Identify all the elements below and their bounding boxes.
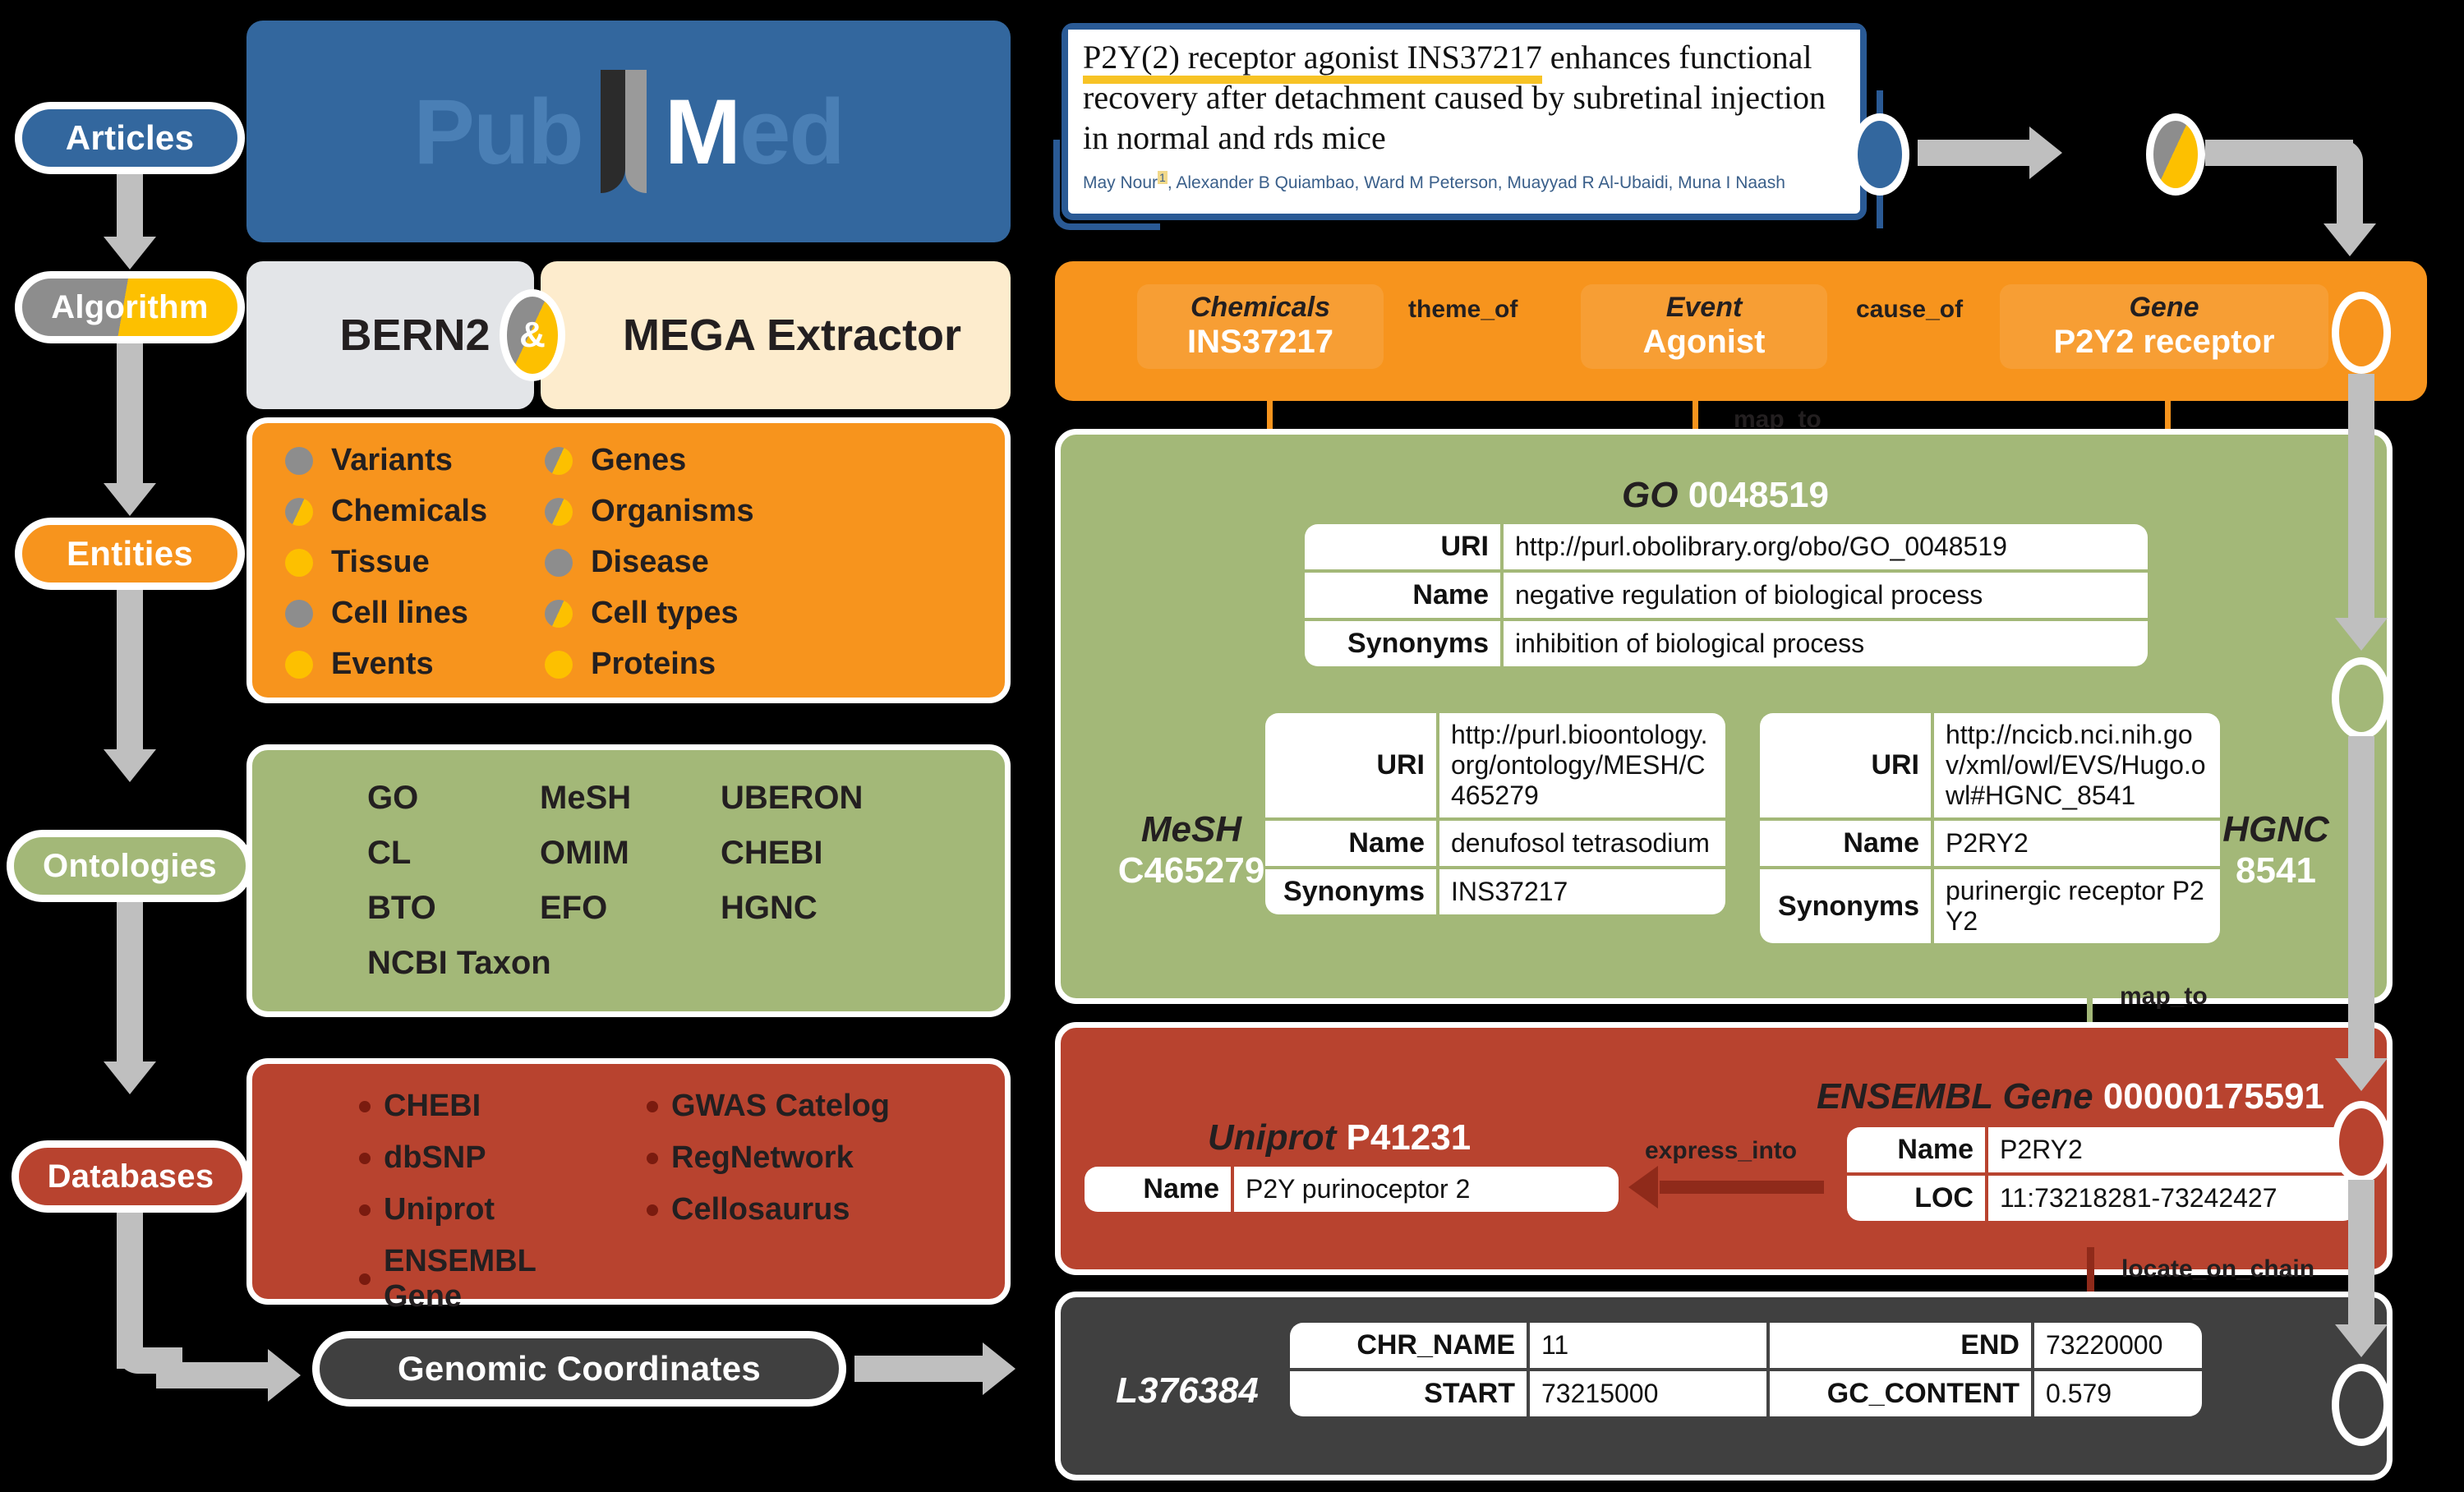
stage-databases-label: Databases <box>48 1158 214 1195</box>
mesh-row-value: denufosol tetrasodium <box>1438 819 1725 868</box>
hgnc-row-value: purinergic receptor P2Y2 <box>1932 868 2220 943</box>
databases-column-2: GWAS Catelog RegNetwork Cellosaurus <box>647 1089 975 1315</box>
ontology-item-ncbi-taxon[interactable]: NCBI Taxon <box>367 945 1005 982</box>
marker-half-icon <box>545 600 573 628</box>
uniprot-title: Uniprot P41231 <box>1093 1117 1586 1158</box>
entities-panel: Variants Chemicals Tissue Cell lines Eve… <box>246 417 1011 703</box>
database-item[interactable]: ENSEMBL Gene <box>359 1244 597 1315</box>
marker-half-icon <box>545 447 573 475</box>
table-row: Namenegative regulation of biological pr… <box>1305 571 2148 619</box>
entity-item[interactable]: Organisms <box>545 494 754 529</box>
mesh-id: C465279 <box>1118 850 1265 891</box>
table-row: NameP2RY2 <box>1847 1127 2356 1174</box>
table-row: Synonymsinhibition of biological process <box>1305 619 2148 666</box>
go-id: 0048519 <box>1688 475 1829 515</box>
marker-grey-icon <box>285 600 313 628</box>
arrow-algorithm-to-entities-corner <box>2337 140 2363 230</box>
go-row-key: Name <box>1305 571 1502 619</box>
arrow-entities-ontologies-head <box>104 749 156 782</box>
database-item[interactable]: Cellosaurus <box>647 1192 975 1227</box>
stage-genomic-label: Genomic Coordinates <box>398 1349 761 1388</box>
table-row: LOC11:73218281-73242427 <box>1847 1174 2356 1221</box>
table-row: URIhttp://purl.bioontology.org/ontology/… <box>1265 713 1725 819</box>
arrow-ontologies-databases <box>117 902 143 1066</box>
genomic-row-value: 73220000 <box>2033 1323 2202 1370</box>
conjunction-label: & <box>519 315 546 356</box>
entity-item[interactable]: Genes <box>545 443 754 478</box>
genomic-row-value: 11 <box>1528 1323 1768 1370</box>
stage-ontologies-label: Ontologies <box>43 848 217 885</box>
databases-column-1: CHEBI dbSNP Uniprot ENSEMBL Gene <box>359 1089 597 1315</box>
ontologies-column-3: UBERON CHEBI HGNC <box>721 780 926 927</box>
node-algorithm[interactable] <box>2146 113 2205 196</box>
marker-half-icon <box>285 498 313 526</box>
arrow-entities-to-ontologies-rail-head <box>2335 618 2388 651</box>
database-label: Uniprot <box>384 1192 495 1227</box>
article-title-highlighted: P2Y(2) receptor agonist INS37217 <box>1083 39 1542 84</box>
entity-item[interactable]: Cell types <box>545 596 754 631</box>
database-label: ENSEMBL Gene <box>384 1244 597 1315</box>
genomic-row-value: 0.579 <box>2033 1370 2202 1416</box>
database-label: dbSNP <box>384 1140 486 1176</box>
databases-panel: CHEBI dbSNP Uniprot ENSEMBL Gene GWAS Ca… <box>246 1058 1011 1305</box>
pubmed-text-m: M <box>665 79 739 185</box>
ensembl-row-value: 11:73218281-73242427 <box>1987 1174 2356 1221</box>
marker-yellow-icon <box>545 651 573 679</box>
stage-entities[interactable]: Entities <box>15 518 245 590</box>
table-row: SynonymsINS37217 <box>1265 868 1725 914</box>
arrow-ontologies-databases-head <box>104 1061 156 1094</box>
stage-articles-label: Articles <box>66 118 194 158</box>
entity-label: Genes <box>591 443 686 478</box>
ontology-item[interactable]: EFO <box>540 890 721 927</box>
uniprot-details-table: NameP2Y purinoceptor 2 <box>1085 1167 1619 1212</box>
entity-label: Proteins <box>591 647 716 682</box>
entities-column-left: Variants Chemicals Tissue Cell lines Eve… <box>285 443 487 682</box>
article-connector-line <box>1053 140 1160 230</box>
ensembl-row-key: Name <box>1847 1127 1987 1174</box>
table-row: START 73215000 GC_CONTENT 0.579 <box>1290 1370 2202 1416</box>
marker-yellow-icon <box>285 549 313 577</box>
arrow-databases-to-genomic-rail-head <box>2335 1324 2388 1357</box>
entity-item[interactable]: Disease <box>545 545 754 580</box>
entity-item[interactable]: Chemicals <box>285 494 487 529</box>
entity-label: Events <box>331 647 434 682</box>
express-into-arrow-head <box>1628 1166 1658 1209</box>
mesh-title: MeSH C465279 <box>1093 809 1290 891</box>
entity-label: Cell lines <box>331 596 468 631</box>
ontologies-panel: GO CL BTO MeSH OMIM EFO UBERON CHEBI HGN… <box>246 744 1011 1017</box>
arrow-ontologies-to-databases-rail <box>2348 736 2374 1065</box>
genomic-row-key: START <box>1290 1370 1528 1416</box>
ontology-item[interactable]: CL <box>367 835 540 872</box>
express-into-arrow <box>1660 1181 1824 1194</box>
ontologies-column-2: MeSH OMIM EFO <box>540 780 721 927</box>
arrow-genomic-to-detail-head <box>983 1342 1016 1395</box>
table-row: CHR_NAME 11 END 73220000 <box>1290 1323 2202 1370</box>
arrow-node-articles-to-algorithm-head <box>2029 127 2062 179</box>
bullet-icon <box>647 1204 658 1216</box>
genomic-row-key: CHR_NAME <box>1290 1323 1528 1370</box>
ensembl-row-key: LOC <box>1847 1174 1987 1221</box>
relation-chip-gene[interactable]: Gene P2Y2 receptor <box>2000 284 2328 369</box>
go-title: GO 0048519 <box>1306 475 2144 516</box>
map-to-label-database: map_to <box>2120 983 2208 1011</box>
express-into-label: express_into <box>1645 1137 1797 1165</box>
relation-chip-value: INS37217 <box>1155 323 1366 361</box>
database-item[interactable]: CHEBI <box>359 1089 597 1124</box>
uniprot-id: P41231 <box>1346 1117 1471 1158</box>
stage-algorithm-label: Algorithm <box>51 289 209 326</box>
hgnc-row-key: Name <box>1760 819 1932 868</box>
bullet-icon <box>359 1204 371 1216</box>
entity-label: Disease <box>591 545 709 580</box>
stage-genomic-coordinates[interactable]: Genomic Coordinates <box>312 1331 846 1407</box>
hgnc-row-value: P2RY2 <box>1932 819 2220 868</box>
node-articles[interactable] <box>1850 113 1909 196</box>
relation-bar: Chemicals INS37217 theme_of Event Agonis… <box>1055 261 2427 401</box>
table-row: NameP2RY2 <box>1760 819 2220 868</box>
article-card[interactable]: P2Y(2) receptor agonist INS37217 enhance… <box>1062 23 1867 220</box>
ontologies-column-1: GO CL BTO <box>367 780 540 927</box>
ontology-item[interactable]: GO <box>367 780 540 817</box>
bullet-icon <box>359 1153 371 1164</box>
stage-databases[interactable]: Databases <box>12 1140 250 1213</box>
marker-half-icon <box>545 498 573 526</box>
marker-yellow-icon <box>285 651 313 679</box>
relation-chip-type: Chemicals <box>1155 292 1366 323</box>
ensembl-row-value: P2RY2 <box>1987 1127 2356 1174</box>
genomic-details-table: CHR_NAME 11 END 73220000 START 73215000 … <box>1290 1323 2202 1416</box>
tool-mega-label: MEGA Extractor <box>590 310 961 361</box>
mesh-details-table: URIhttp://purl.bioontology.org/ontology/… <box>1265 713 1725 914</box>
arrow-genomic-to-detail <box>854 1356 986 1382</box>
ontology-item[interactable]: BTO <box>367 890 540 927</box>
tool-bern2[interactable]: BERN2 <box>246 261 534 409</box>
pubmed-logo: Pub M ed <box>246 21 1011 242</box>
entity-label: Variants <box>331 443 453 478</box>
genomic-row-key: GC_CONTENT <box>1768 1370 2033 1416</box>
mesh-row-key: Synonyms <box>1265 868 1438 914</box>
ensembl-id: 00000175591 <box>2103 1076 2324 1117</box>
arrow-databases-to-genomic-rail <box>2348 1180 2374 1332</box>
ensembl-prefix: ENSEMBL Gene <box>1817 1076 2093 1117</box>
stage-ontologies[interactable]: Ontologies <box>7 830 253 902</box>
mesh-row-key: URI <box>1265 713 1438 819</box>
genomic-row-value: 73215000 <box>1528 1370 1768 1416</box>
marker-grey-icon <box>545 549 573 577</box>
mesh-row-key: Name <box>1265 819 1438 868</box>
go-row-key: URI <box>1305 524 1502 571</box>
relation-chip-type: Event <box>1599 292 1809 323</box>
entities-column-right: Genes Organisms Disease Cell types Prote… <box>545 443 754 682</box>
entity-label: Chemicals <box>331 494 487 529</box>
ontology-item[interactable]: UBERON <box>721 780 926 817</box>
tool-bern2-label: BERN2 <box>290 310 490 361</box>
go-row-value: http://purl.obolibrary.org/obo/GO_004851… <box>1502 524 2148 571</box>
article-card-inner: P2Y(2) receptor agonist INS37217 enhance… <box>1068 30 1860 201</box>
database-label: GWAS Catelog <box>671 1089 890 1124</box>
uniprot-row-key: Name <box>1085 1167 1232 1212</box>
node-ontologies[interactable] <box>2332 657 2391 739</box>
article-authors: May Nour1, Alexander B Quiambao, Ward M … <box>1083 171 1845 193</box>
relation-edge-cause-of: cause_of <box>1856 296 1963 324</box>
relation-chip-chemicals[interactable]: Chemicals INS37217 <box>1137 284 1384 369</box>
entity-label: Tissue <box>331 545 430 580</box>
table-row: Synonymspurinergic receptor P2Y2 <box>1760 868 2220 943</box>
ensembl-title: ENSEMBL Gene 00000175591 <box>1808 1076 2333 1117</box>
bullet-icon <box>359 1101 371 1112</box>
ensembl-details-table: NameP2RY2 LOC11:73218281-73242427 <box>1847 1127 2356 1221</box>
relation-chip-event[interactable]: Event Agonist <box>1581 284 1827 369</box>
stage-articles[interactable]: Articles <box>15 102 245 174</box>
uniprot-prefix: Uniprot <box>1208 1117 1336 1158</box>
go-row-key: Synonyms <box>1305 619 1502 666</box>
pubmed-text-pub: Pub <box>413 79 583 185</box>
ontology-item[interactable]: HGNC <box>721 890 926 927</box>
go-row-value: negative regulation of biological proces… <box>1502 571 2148 619</box>
database-item[interactable]: Uniprot <box>359 1192 597 1227</box>
bullet-icon <box>647 1153 658 1164</box>
stage-entities-label: Entities <box>67 534 193 573</box>
stage-algorithm[interactable]: Algorithm <box>15 271 245 343</box>
database-item[interactable]: GWAS Catelog <box>647 1089 975 1124</box>
arrow-algorithm-to-entities-head <box>2324 223 2376 256</box>
table-row: NameP2Y purinoceptor 2 <box>1085 1167 1619 1212</box>
hgnc-row-value: http://ncicb.nci.nih.gov/xml/owl/EVS/Hug… <box>1932 713 2220 819</box>
entity-item[interactable]: Variants <box>285 443 487 478</box>
relation-chip-value: P2Y2 receptor <box>2018 323 2310 361</box>
go-row-value: inhibition of biological process <box>1502 619 2148 666</box>
locate-on-chain-label: locate_on_chain <box>2121 1255 2314 1283</box>
arrow-entities-ontologies <box>117 590 143 754</box>
ontology-item[interactable]: CHEBI <box>721 835 926 872</box>
pubmed-wordmark: Pub M ed <box>413 70 844 193</box>
relation-chip-value: Agonist <box>1599 323 1809 361</box>
hgnc-row-key: URI <box>1760 713 1932 819</box>
entity-item[interactable]: Cell lines <box>285 596 487 631</box>
entity-label: Cell types <box>591 596 739 631</box>
arrow-databases-genomic-horizontal <box>156 1362 271 1388</box>
locate-on-chain-arrow <box>2087 1247 2094 1298</box>
arrow-node-articles-to-algorithm <box>1918 140 2041 166</box>
bullet-icon <box>359 1273 371 1285</box>
table-row: Namedenufosol tetrasodium <box>1265 819 1725 868</box>
database-label: Cellosaurus <box>671 1192 850 1227</box>
ontology-item[interactable]: OMIM <box>540 835 721 872</box>
hgnc-row-key: Synonyms <box>1760 868 1932 943</box>
mesh-row-value: INS37217 <box>1438 868 1725 914</box>
ontology-item[interactable]: MeSH <box>540 780 721 817</box>
arrow-algorithm-entities <box>117 343 143 487</box>
table-row: URIhttp://ncicb.nci.nih.gov/xml/owl/EVS/… <box>1760 713 2220 819</box>
entity-item[interactable]: Tissue <box>285 545 487 580</box>
node-entities[interactable] <box>2332 292 2391 374</box>
database-item[interactable]: RegNetwork <box>647 1140 975 1176</box>
arrow-algorithm-to-entities-h <box>2205 140 2353 166</box>
arrow-databases-genomic-vertical <box>117 1213 143 1369</box>
arrow-entities-to-ontologies-rail <box>2348 374 2374 624</box>
article-title: P2Y(2) receptor agonist INS37217 enhance… <box>1083 38 1845 158</box>
entity-item[interactable]: Proteins <box>545 647 754 682</box>
table-row: URIhttp://purl.obolibrary.org/obo/GO_004… <box>1305 524 2148 571</box>
arrow-articles-algorithm-head <box>104 237 156 269</box>
tool-mega-extractor[interactable]: MEGA Extractor <box>541 261 1011 409</box>
arrow-ontologies-to-databases-rail-head <box>2335 1058 2388 1091</box>
relation-edge-theme-of: theme_of <box>1408 296 1518 324</box>
marker-grey-icon <box>285 447 313 475</box>
arrow-articles-algorithm <box>117 174 143 240</box>
database-item[interactable]: dbSNP <box>359 1140 597 1176</box>
genomic-row-key: END <box>1768 1323 2033 1370</box>
database-label: RegNetwork <box>671 1140 854 1176</box>
node-databases[interactable] <box>2332 1101 2391 1183</box>
go-prefix: GO <box>1622 475 1678 515</box>
go-details-table: URIhttp://purl.obolibrary.org/obo/GO_004… <box>1305 524 2148 666</box>
mesh-row-value: http://purl.bioontology.org/ontology/MES… <box>1438 713 1725 819</box>
arrow-algorithm-entities-head <box>104 483 156 516</box>
conjunction-badge: & <box>500 289 565 381</box>
arrow-databases-genomic-head <box>268 1349 301 1402</box>
genomic-id: L376384 <box>1093 1370 1282 1411</box>
book-icon <box>586 70 661 193</box>
mesh-prefix: MeSH <box>1141 809 1241 850</box>
pubmed-text-ed: ed <box>739 79 844 185</box>
article-authors-rest: , Alexander B Quiambao, Ward M Peterson,… <box>1168 173 1785 192</box>
node-genomic[interactable] <box>2332 1364 2391 1446</box>
uniprot-row-value: P2Y purinoceptor 2 <box>1232 1167 1619 1212</box>
database-label: CHEBI <box>384 1089 481 1124</box>
entity-item[interactable]: Events <box>285 647 487 682</box>
relation-chip-type: Gene <box>2018 292 2310 323</box>
hgnc-id: 8541 <box>2236 850 2316 891</box>
hgnc-details-table: URIhttp://ncicb.nci.nih.gov/xml/owl/EVS/… <box>1760 713 2220 943</box>
entity-label: Organisms <box>591 494 754 529</box>
bullet-icon <box>647 1101 658 1112</box>
hgnc-prefix: HGNC <box>2222 809 2329 850</box>
